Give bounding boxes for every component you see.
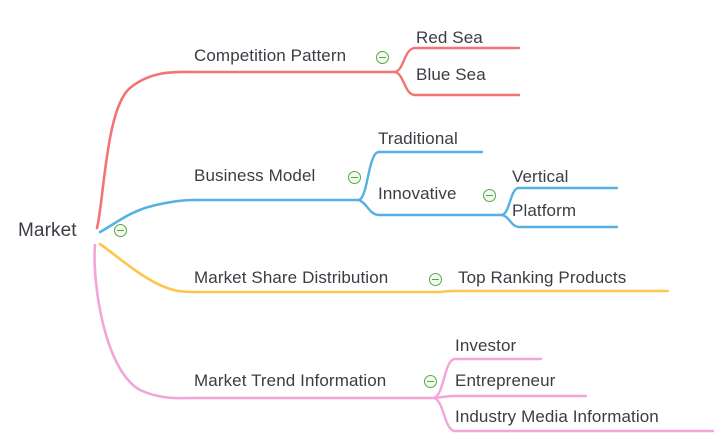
toggle-innovative[interactable] bbox=[483, 189, 496, 202]
node-competition-pattern[interactable]: Competition Pattern bbox=[194, 46, 346, 66]
node-market-trend-information[interactable]: Market Trend Information bbox=[194, 371, 386, 391]
node-top-ranking-products[interactable]: Top Ranking Products bbox=[458, 268, 626, 288]
edge-root-to-competition-pattern bbox=[97, 72, 194, 228]
toggle-root-market[interactable] bbox=[114, 224, 127, 237]
node-red-sea[interactable]: Red Sea bbox=[416, 28, 483, 48]
mindmap-canvas: Market Competition Pattern Red Sea Blue … bbox=[0, 0, 714, 445]
node-investor[interactable]: Investor bbox=[455, 336, 516, 356]
edge-market-trend-information-to-entrepreneur bbox=[434, 396, 586, 398]
node-industry-media-information[interactable]: Industry Media Information bbox=[455, 407, 659, 427]
node-traditional[interactable]: Traditional bbox=[378, 129, 458, 149]
node-blue-sea[interactable]: Blue Sea bbox=[416, 65, 486, 85]
edge-market-share-distribution-to-top-ranking-products bbox=[440, 291, 668, 292]
node-vertical[interactable]: Vertical bbox=[512, 167, 569, 187]
node-platform[interactable]: Platform bbox=[512, 201, 576, 221]
toggle-competition-pattern[interactable] bbox=[376, 51, 389, 64]
node-business-model[interactable]: Business Model bbox=[194, 166, 315, 186]
toggle-market-share-distribution[interactable] bbox=[429, 273, 442, 286]
node-entrepreneur[interactable]: Entrepreneur bbox=[455, 371, 555, 391]
node-market-share-distribution[interactable]: Market Share Distribution bbox=[194, 268, 388, 288]
edge-root-to-market-share-distribution bbox=[100, 244, 194, 292]
toggle-market-trend-information[interactable] bbox=[424, 375, 437, 388]
node-root-market[interactable]: Market bbox=[18, 221, 77, 241]
node-innovative[interactable]: Innovative bbox=[378, 184, 457, 204]
edge-root-to-market-trend-information bbox=[95, 245, 194, 398]
toggle-business-model[interactable] bbox=[348, 171, 361, 184]
